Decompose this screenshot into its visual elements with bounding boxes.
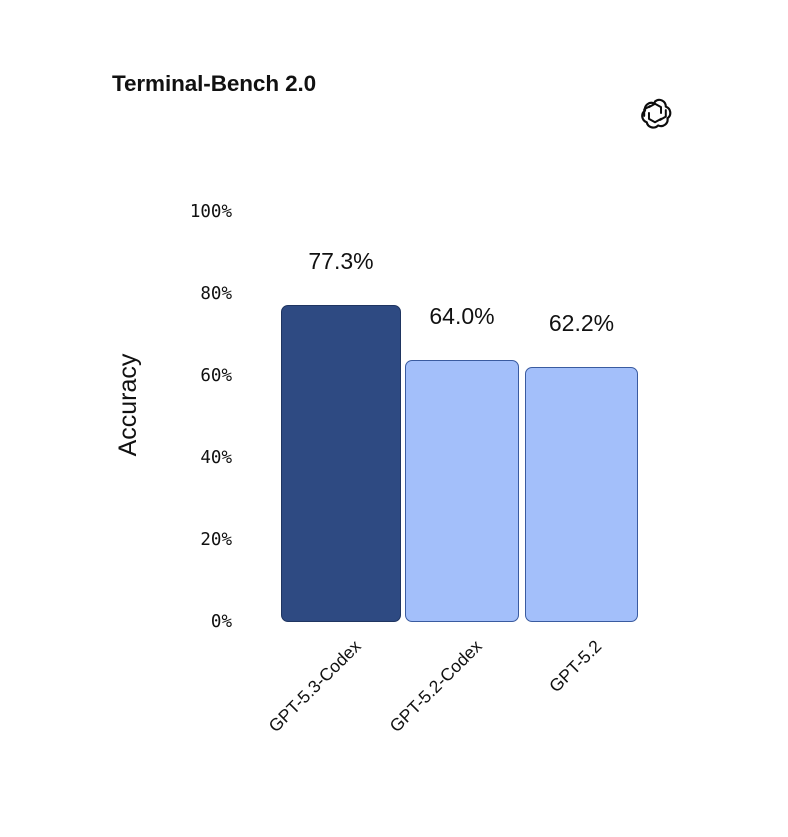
x-axis-tick-label: GPT-5.2-Codex <box>386 636 487 737</box>
x-axis-tick-label: GPT-5.2 <box>545 636 606 697</box>
x-axis-tick-labels: GPT-5.3-CodexGPT-5.2-CodexGPT-5.2 <box>0 0 788 837</box>
x-axis-tick-label: GPT-5.3-Codex <box>265 636 366 737</box>
chart-figure: Terminal-Bench 2.0 Accuracy 100%80%60%40… <box>0 0 788 837</box>
